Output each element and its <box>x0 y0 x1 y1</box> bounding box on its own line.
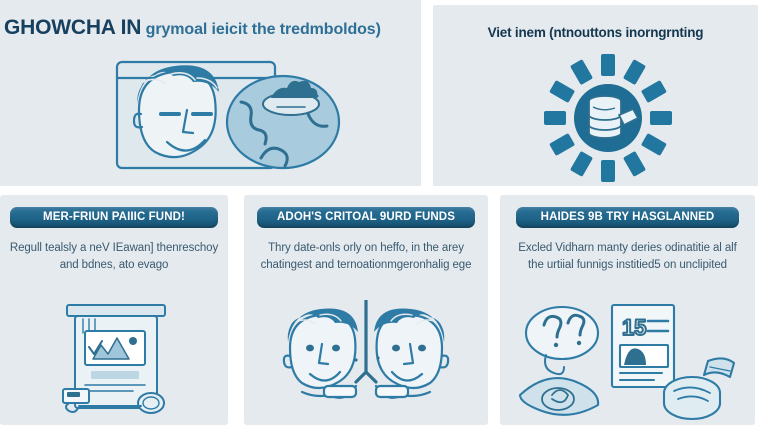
panel-bottom-middle: ADOH'S CRITOAL 9URD FUNDS Thry date-onls… <box>244 195 488 425</box>
panel-top-right: Viet inem (ntnouttons inorngrnting <box>433 5 758 186</box>
sunburst-jar-icon <box>543 53 673 183</box>
headline-strong: GHOWCHA IN <box>4 16 141 39</box>
face-and-globe-illustration <box>105 58 345 180</box>
panel-title-top-right: Viet inem (ntnouttons inorngrnting <box>433 25 758 40</box>
headline-rest: grymoal ieicit the tredmboldos) <box>146 21 381 38</box>
document-number: 15 <box>622 315 646 340</box>
document-money-thought-illustration: 15 <box>512 295 744 421</box>
atm-machine-illustration <box>55 303 177 421</box>
two-faces-illustration <box>266 300 466 422</box>
body-text-bottom-left: Regull tealsly a neV IEawan] thenreschoy… <box>6 240 222 275</box>
badge-bottom-right: HAIDES 9B TRY HASGLANNED <box>516 207 739 228</box>
infographic-root: GHOWCHA IN grymoal ieicit the tredmboldo… <box>0 0 768 432</box>
body-text-bottom-middle: Thry date-onls orly on heffo, in the are… <box>254 240 478 275</box>
panel-bottom-right: HAIDES 9B TRY HASGLANNED Excled Vidharn … <box>500 195 755 425</box>
panel-bottom-left: MER-FRIUN PAIIIC FUND! Regull tealsly a … <box>0 195 228 425</box>
headline: GHOWCHA IN grymoal ieicit the tredmboldo… <box>4 17 419 38</box>
badge-bottom-middle: ADOH'S CRITOAL 9URD FUNDS <box>257 207 475 228</box>
body-text-bottom-right: Excled Vidharn manty deries odinatitie a… <box>510 240 745 275</box>
panel-top-left: GHOWCHA IN grymoal ieicit the tredmboldo… <box>0 0 421 186</box>
badge-bottom-left: MER-FRIUN PAIIIC FUND! <box>10 207 218 228</box>
